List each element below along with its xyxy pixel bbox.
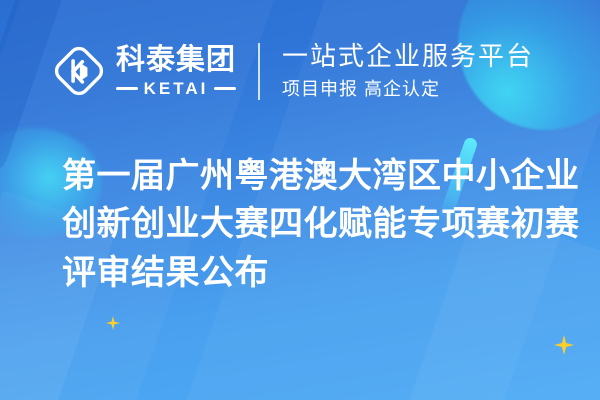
headline-line-1: 第一届广州粤港澳大湾区中小企业 bbox=[62, 152, 562, 200]
ketai-logo-icon bbox=[52, 44, 106, 98]
brand-name-en: KETAI bbox=[144, 80, 209, 97]
tagline-sub: 项目申报 高企认定 bbox=[282, 77, 534, 101]
headline-line-2: 创新创业大赛四化赋能专项赛初赛 bbox=[62, 200, 562, 248]
tagline-main: 一站式企业服务平台 bbox=[282, 41, 534, 72]
promo-banner: 科泰集团 KETAI 一站式企业服务平台 项目申报 高企认定 第一届广州粤港澳大… bbox=[0, 0, 600, 400]
tagline-block: 一站式企业服务平台 项目申报 高企认定 bbox=[282, 41, 534, 101]
brand-rule-left bbox=[116, 87, 138, 90]
headline-line-3: 评审结果公布 bbox=[62, 249, 562, 297]
banner-header: 科泰集团 KETAI 一站式企业服务平台 项目申报 高企认定 bbox=[0, 0, 600, 142]
brand-name-cn: 科泰集团 bbox=[116, 46, 236, 75]
brand-wordmark: 科泰集团 KETAI bbox=[116, 46, 236, 97]
headline-block: 第一届广州粤港澳大湾区中小企业 创新创业大赛四化赋能专项赛初赛 评审结果公布 bbox=[62, 152, 562, 297]
brand-name-en-row: KETAI bbox=[116, 80, 236, 97]
brand-lockup: 科泰集团 KETAI bbox=[52, 44, 236, 98]
header-divider bbox=[258, 43, 260, 100]
brand-rule-right bbox=[214, 87, 236, 90]
